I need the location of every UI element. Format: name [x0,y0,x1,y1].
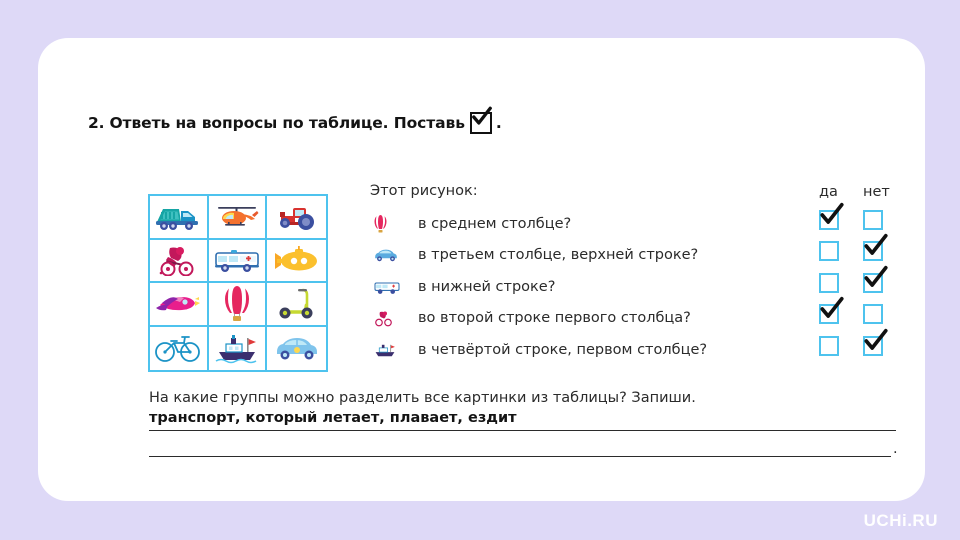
hot-air-balloon-icon [222,285,252,323]
checkbox-yes[interactable] [819,336,839,356]
answer-columns: да нет [819,184,907,362]
table-cell-ambulance [209,240,268,284]
question-text: во второй строке первого столбца? [418,310,691,326]
table-cell-submarine [267,240,326,284]
table-cell-scooter [267,283,326,327]
answer-line-1[interactable]: транспорт, который летает, плавает, езди… [149,410,896,431]
table-cell-boat [209,327,268,371]
question-text: в третьем столбце, верхней строке? [418,247,698,263]
table-cell-dump-truck [150,196,209,240]
dump-truck-icon [155,202,201,232]
question-row: в нижней строке? [370,271,800,303]
checkbox-no[interactable] [863,273,883,293]
yes-column-label: да [819,184,863,200]
submarine-icon [273,246,321,274]
task-instruction-text: Ответь на вопросы по таблице. Поставь [109,114,464,132]
tricycle-rider-icon [156,244,200,276]
answer-row [819,236,907,268]
bicycle-icon [154,333,202,363]
task-instruction-trailing: . [496,114,502,132]
no-column-label: нет [863,184,907,200]
answer-line-2[interactable] [149,438,891,457]
checkbox-yes[interactable] [819,241,839,261]
checkmark-icon [819,202,845,228]
tractor-icon [275,202,319,232]
boat-icon [214,332,260,364]
checkmark-icon [863,328,889,354]
question-text: в среднем столбце? [418,216,571,232]
table-cell-helicopter [209,196,268,240]
airplane-icon [154,289,202,319]
picture-table [148,194,328,372]
scooter-icon [277,287,317,321]
checkmark-icon [863,233,889,259]
table-cell-airplane [150,283,209,327]
task-heading: 2. Ответь на вопросы по таблице. Поставь… [88,112,502,134]
checkmark-icon [470,112,492,134]
table-cell-hot-air-balloon [209,283,268,327]
table-cell-tractor [267,196,326,240]
car-icon [370,247,418,263]
table-cell-tricycle-rider [150,240,209,284]
bottom-question: На какие группы можно разделить все карт… [149,390,696,406]
answer-row [819,299,907,331]
boat-icon [370,341,418,359]
written-answer: транспорт, который летает, плавает, езди… [149,410,521,426]
checkmark-icon [819,296,845,322]
answer-line-trailing-dot: . [893,441,898,457]
question-text: в четвёртой строке, первом столбце? [418,342,707,358]
checkmark-glyph [471,106,493,128]
checkbox-yes[interactable] [819,210,839,230]
checkbox-no[interactable] [863,241,883,261]
checkbox-yes[interactable] [819,304,839,324]
table-cell-car [267,327,326,371]
worksheet-card: 2. Ответь на вопросы по таблице. Поставь… [38,38,925,501]
ambulance-icon [370,279,418,295]
ambulance-icon [213,246,261,274]
answer-row [819,330,907,362]
answer-row [819,204,907,236]
checkbox-no[interactable] [863,336,883,356]
watermark: UCHi.RU [864,511,938,531]
questions-list: в среднем столбце? в третьем столбце, ве… [370,208,800,366]
car-icon [273,334,321,362]
question-row: в третьем столбце, верхней строке? [370,240,800,272]
question-text: в нижней строке? [418,279,555,295]
question-row: во второй строке первого столбца? [370,303,800,335]
helicopter-icon [214,202,260,232]
questions-intro: Этот рисунок: [370,183,478,199]
table-cell-bicycle [150,327,209,371]
checkbox-no[interactable] [863,304,883,324]
tricycle-rider-icon [370,309,418,327]
question-row: в среднем столбце? [370,208,800,240]
checkbox-yes[interactable] [819,273,839,293]
checkmark-icon [863,265,889,291]
answer-row [819,267,907,299]
question-row: в четвёртой строке, первом столбце? [370,334,800,366]
task-number: 2. [88,114,104,132]
hot-air-balloon-icon [370,214,418,234]
checkbox-no[interactable] [863,210,883,230]
